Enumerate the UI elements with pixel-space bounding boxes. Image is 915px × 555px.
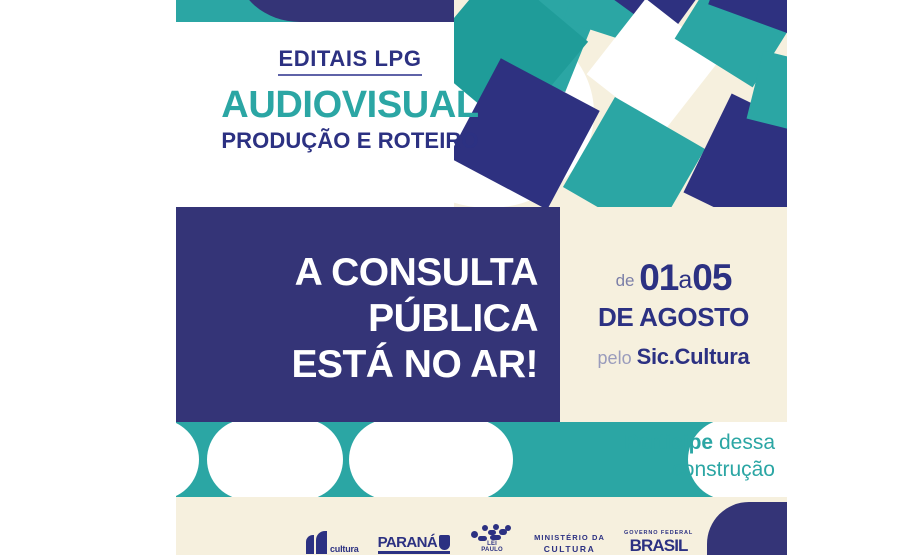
cta-line-2: construção [560, 457, 775, 484]
poster-canvas: EDITAIS LPG AUDIOVISUAL PRODUÇÃO E ROTEI… [176, 0, 787, 555]
logo-parana-label: PARANÁ [378, 535, 437, 550]
pill-cutout-2 [207, 422, 343, 497]
logo-ministerio-line-1: MINISTÉRIO DA [534, 533, 605, 542]
channel-name: Sic.Cultura [637, 344, 750, 369]
footer-navy-corner [707, 502, 787, 555]
date-channel: pelo Sic.Cultura [560, 344, 787, 370]
top-strip-navy-curve [236, 0, 366, 22]
date-start: 01 [639, 257, 678, 298]
cta-strong: Participe [624, 431, 713, 454]
date-separator: a [678, 266, 692, 294]
people-group-icon [469, 524, 515, 540]
brand-title: AUDIOVISUAL [176, 86, 524, 125]
headline-line-2: PÚBLICA [291, 296, 538, 342]
logo-lei-line-1: LEI [487, 541, 497, 547]
parana-shield-icon [439, 535, 450, 550]
pill-cutout-3 [349, 422, 513, 497]
date-end: 05 [692, 257, 731, 298]
logo-cultura: cultura [306, 531, 359, 554]
brand-eyebrow: EDITAIS LPG [278, 48, 421, 76]
headline-line-1: A CONSULTA [291, 250, 538, 296]
logo-governo-federal-brasil: GOVERNO FEDERAL BRASIL [624, 530, 693, 554]
logo-lei-paulo-gustavo: LEI PAULO [469, 524, 515, 554]
logo-brasil-line-1: GOVERNO FEDERAL [624, 530, 693, 536]
date-panel: de 01a05 DE AGOSTO pelo Sic.Cultura [560, 207, 787, 422]
headline-block: A CONSULTA PÚBLICA ESTÁ NO AR! [176, 207, 560, 422]
brand-subtitle: PRODUÇÃO E ROTEIRO [176, 130, 524, 152]
channel-prefix: pelo [598, 348, 632, 368]
cta-rest: dessa [713, 431, 775, 454]
logo-ministerio-da-cultura: MINISTÉRIO DA CULTURA [534, 533, 605, 554]
cultura-mark-icon [306, 531, 327, 554]
logo-cultura-label: cultura [330, 544, 359, 554]
date-range: de 01a05 [560, 259, 787, 296]
headline-line-3: ESTÁ NO AR! [291, 342, 538, 388]
call-to-action: Participe dessa construção [560, 430, 775, 484]
brand-lockup: EDITAIS LPG AUDIOVISUAL PRODUÇÃO E ROTEI… [176, 48, 524, 152]
date-block: de 01a05 DE AGOSTO pelo Sic.Cultura [560, 259, 787, 370]
parana-underline [378, 551, 450, 554]
cta-line-1: Participe dessa [560, 430, 775, 457]
logo-parana: PARANÁ [378, 535, 450, 554]
date-month: DE AGOSTO [560, 302, 787, 333]
logo-row: cultura PARANÁ [306, 524, 693, 554]
logo-lei-line-2: PAULO [481, 547, 503, 553]
date-prefix: de [616, 271, 635, 290]
headline-text: A CONSULTA PÚBLICA ESTÁ NO AR! [291, 250, 538, 388]
logo-brasil-line-2: BRASIL [630, 537, 688, 554]
logo-ministerio-line-2: CULTURA [544, 544, 596, 554]
footer-bar: cultura PARANÁ [176, 497, 787, 555]
pill-band: Participe dessa construção [176, 422, 787, 497]
